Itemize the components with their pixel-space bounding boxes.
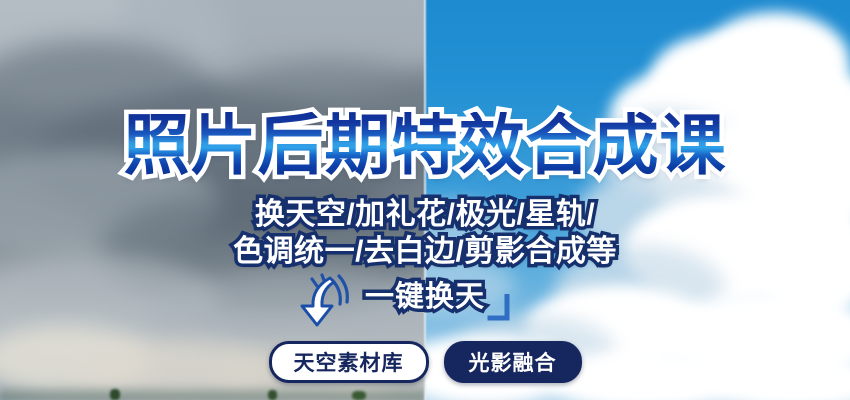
one-click-sky-row: 一键换天 一键换天 xyxy=(0,281,850,329)
badge-light-shadow-blend[interactable]: 光影融合 xyxy=(444,341,582,383)
banner-subtitle-line1: 换天空/加礼花/极光/星轨/ xyxy=(0,200,850,230)
promo-banner: 照片后期特效合成课 照片后期特效合成课 换天空/加礼花/极光/星轨/ 换天空/加… xyxy=(0,0,850,400)
feature-badges: 天空素材库 光影融合 xyxy=(0,341,850,383)
corner-bracket-icon xyxy=(487,294,513,322)
banner-subtitle-line2: 色调统一/去白边/剪影合成等 xyxy=(0,237,850,267)
one-click-sky-label: 一键换天 xyxy=(0,283,850,312)
banner-title: 照片后期特效合成课 xyxy=(0,112,850,178)
badge-sky-asset-library[interactable]: 天空素材库 xyxy=(269,341,429,383)
